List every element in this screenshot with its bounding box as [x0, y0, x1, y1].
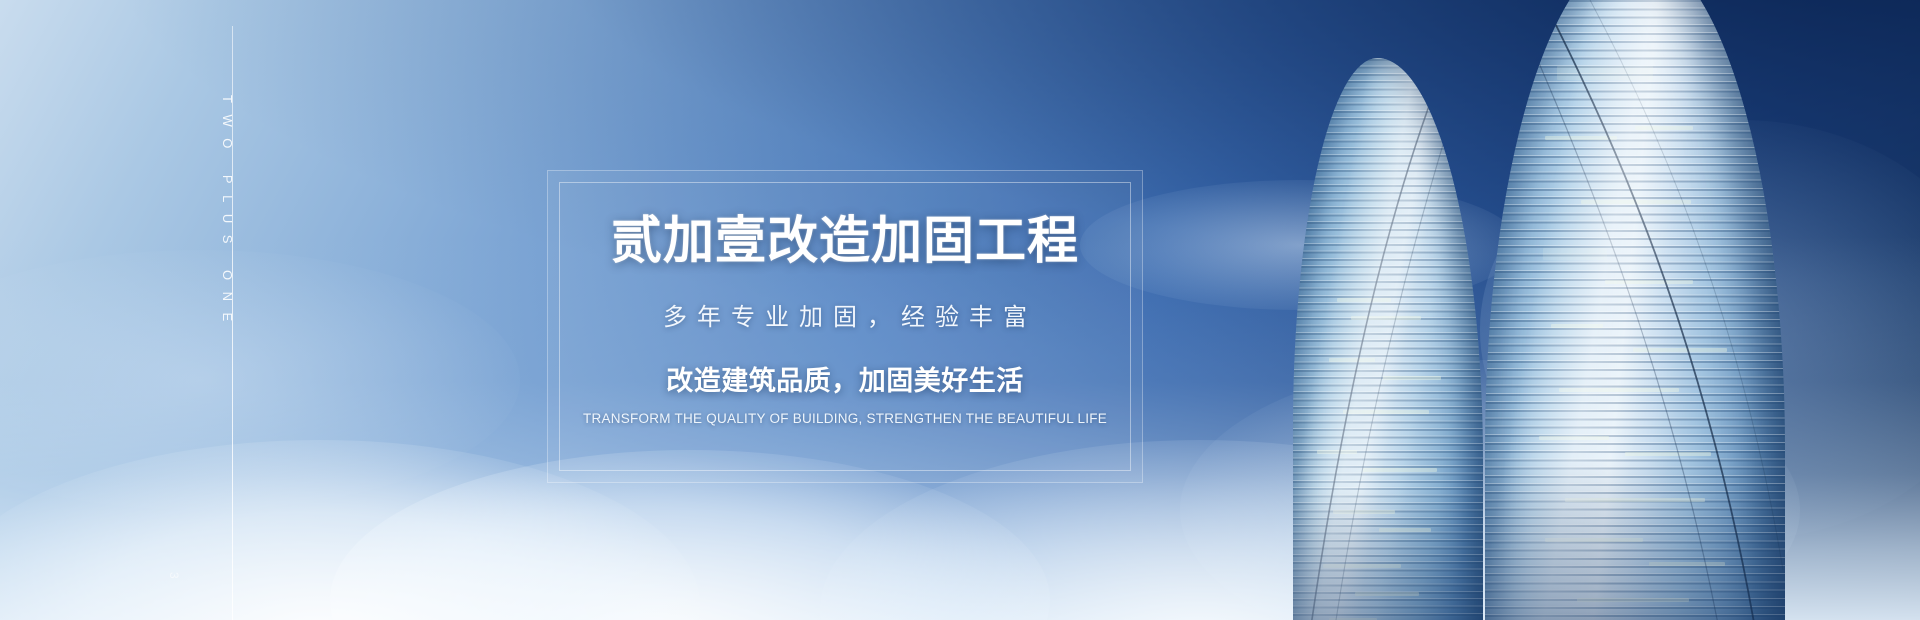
hero-headline: 贰加壹改造加固工程 [611, 213, 1079, 268]
skyscraper-group [1255, 0, 1785, 620]
tower-base-shadow-right [1485, 0, 1785, 620]
hero-text-panel: 贰加壹改造加固工程 多年专业加固，经验丰富 改造建筑品质，加固美好生活 TRAN… [547, 170, 1143, 483]
hero-tagline-english: TRANSFORM THE QUALITY OF BUILDING, STREN… [583, 411, 1107, 426]
side-mark-glyph: 3 [167, 572, 181, 582]
hero-subline: 多年专业加固，经验丰富 [653, 297, 1037, 332]
brand-vertical-label: TWO PLUS ONE [220, 95, 235, 333]
curved-glass-tower-left [1293, 58, 1483, 620]
hero-tagline: 改造建筑品质，加固美好生活 [666, 359, 1024, 398]
hero-panel-content: 贰加壹改造加固工程 多年专业加固，经验丰富 改造建筑品质，加固美好生活 TRAN… [548, 171, 1142, 482]
curved-glass-tower-right [1485, 0, 1785, 620]
tower-base-shadow-left [1293, 58, 1483, 620]
hero-banner: TWO PLUS ONE 3 贰加壹改造加固工程 多年专业加固，经验丰富 改造建… [0, 0, 1920, 620]
